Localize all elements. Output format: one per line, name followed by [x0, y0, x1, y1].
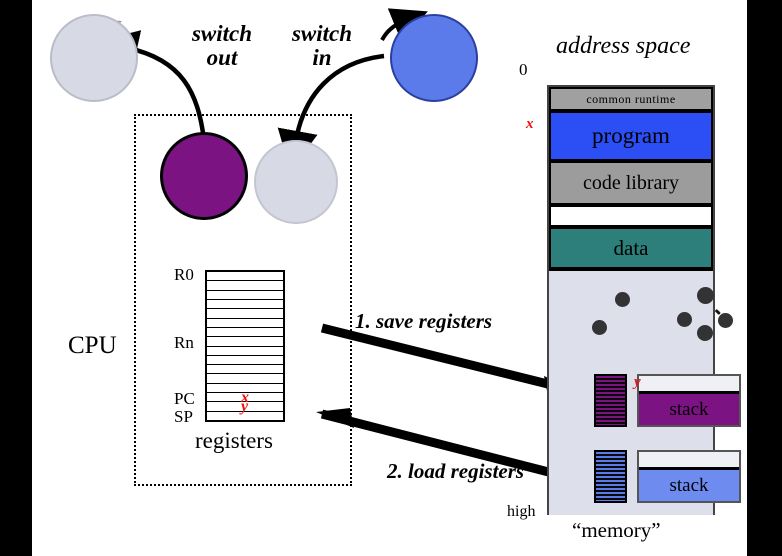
- switch-out-label-line2: out: [172, 46, 272, 70]
- memory-segment-label: program: [592, 123, 670, 149]
- heap-object-dot: [718, 313, 733, 328]
- memory-segment-program[interactable]: program: [549, 111, 713, 161]
- diagram-paper: switch out switch in CPU x: [32, 0, 747, 556]
- switch-in-label: switch in: [272, 22, 372, 70]
- registers-box[interactable]: x y: [205, 270, 285, 422]
- switch-in-label-line2: in: [272, 46, 372, 70]
- heap-object-dot: [677, 312, 692, 327]
- switch-out-label: switch out: [172, 22, 272, 70]
- heap-object-dot: [697, 287, 714, 304]
- register-row: [207, 374, 283, 383]
- stack-label: stack: [669, 475, 708, 497]
- step-load-registers-label: 2. load registers: [387, 460, 524, 482]
- address-low-marker: 0: [519, 60, 528, 80]
- step-save-registers-label: 1. save registers: [355, 310, 492, 332]
- register-row: [207, 328, 283, 337]
- heap-object-dot: [697, 325, 713, 341]
- memory-segment-label: common runtime: [586, 92, 675, 107]
- memory-segment-free-gap[interactable]: [549, 205, 713, 227]
- thread-circle-parked-out[interactable]: [50, 14, 138, 102]
- register-label-r0: R0: [174, 265, 194, 285]
- stack-fill-blue: stack: [639, 467, 739, 501]
- memory-caption: “memory”: [572, 518, 661, 543]
- register-row: [207, 365, 283, 374]
- register-row: [207, 347, 283, 356]
- stack-pointer-value-purple: y: [634, 374, 641, 391]
- memory-segment-code-library[interactable]: code library: [549, 161, 713, 205]
- address-high-marker: high: [507, 503, 535, 521]
- register-label-rn: Rn: [174, 333, 194, 353]
- address-pointer-marker: x: [526, 116, 534, 133]
- register-row: [207, 300, 283, 309]
- memory-segment-common-runtime[interactable]: common runtime: [549, 87, 713, 111]
- stack-fill-purple: stack: [639, 391, 739, 425]
- switch-in-label-line1: switch: [272, 22, 372, 46]
- switch-out-label-line1: switch: [172, 22, 272, 46]
- register-row: [207, 291, 283, 300]
- stack-box-blue[interactable]: stack: [637, 450, 741, 503]
- stack-box-purple[interactable]: stack: [637, 374, 741, 427]
- register-row: [207, 412, 283, 420]
- saved-registers-block-purple[interactable]: [594, 374, 627, 427]
- register-label-pc: PC: [174, 389, 195, 409]
- memory-segment-data[interactable]: data: [549, 227, 713, 269]
- memory-segment-label: code library: [583, 172, 679, 195]
- register-row-sp: y: [207, 402, 283, 411]
- stack-label: stack: [669, 399, 708, 421]
- thread-circle-waiting[interactable]: [254, 140, 338, 224]
- save-registers-arrow-shaft: [322, 328, 572, 390]
- heap-object-dot: [592, 320, 607, 335]
- register-row: [207, 309, 283, 318]
- thread-circle-running[interactable]: [160, 132, 248, 220]
- thread-circle-incoming[interactable]: [390, 14, 478, 102]
- register-row: [207, 281, 283, 290]
- register-row: [207, 272, 283, 281]
- registers-caption: registers: [195, 428, 273, 454]
- diagram-canvas: switch out switch in CPU x: [0, 0, 782, 556]
- register-row: [207, 337, 283, 346]
- register-row: [207, 319, 283, 328]
- cpu-label: CPU: [68, 332, 117, 360]
- register-label-sp: SP: [174, 407, 193, 427]
- address-space-title: address space: [556, 34, 690, 59]
- heap-object-dot: [615, 292, 630, 307]
- saved-registers-block-blue[interactable]: [594, 450, 627, 503]
- memory-segment-label: data: [614, 236, 649, 261]
- register-row: [207, 356, 283, 365]
